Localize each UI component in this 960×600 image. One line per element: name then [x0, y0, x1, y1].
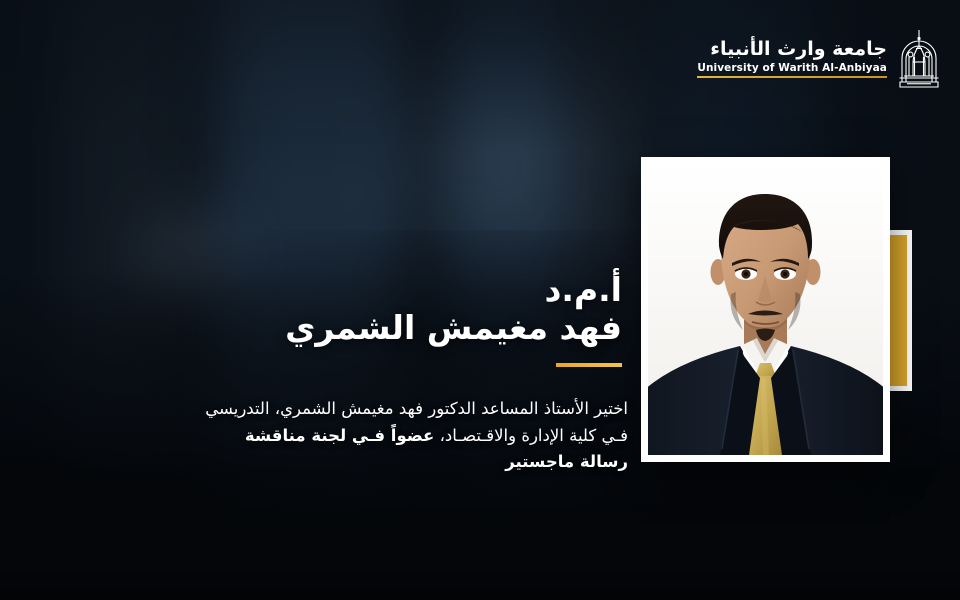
university-logo-wordmark: جامعة وارث الأنبياء University of Warith… [697, 40, 887, 79]
headline-block: أ.م.د فهد مغيمش الشمري [202, 272, 622, 367]
announcement-text: اختير الأستاذ المساعد الدكتور فهد مغيمش … [198, 396, 628, 476]
headline-underline [556, 363, 622, 367]
shrine-dome-emblem-icon [896, 28, 942, 90]
logo-underline [697, 76, 887, 78]
portrait-frame [641, 157, 890, 462]
announcement-line-2-normal: كلية الإدارة والاقـتصـاد، [434, 426, 596, 445]
degree-title: أ.م.د [202, 272, 622, 309]
portrait-photo [648, 164, 883, 455]
announcement-card: جامعة وارث الأنبياء University of Warith… [0, 0, 960, 600]
university-name-english: University of Warith Al-Anbiyaa [697, 63, 887, 74]
university-name-arabic: جامعة وارث الأنبياء [710, 40, 887, 59]
portrait-illustration [648, 164, 883, 455]
university-logo[interactable]: جامعة وارث الأنبياء University of Warith… [697, 28, 942, 90]
person-name: فهد مغيمش الشمري [202, 309, 622, 348]
